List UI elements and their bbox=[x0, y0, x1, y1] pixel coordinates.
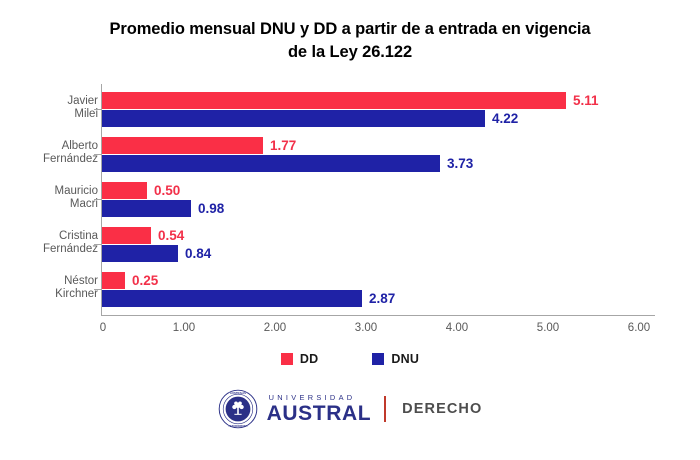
category-label-line: Milei bbox=[12, 108, 98, 121]
category-label-line: Javier bbox=[12, 95, 98, 108]
category-label-mauricio-macri: Mauricio Macri bbox=[12, 185, 98, 211]
category-label-line: Fernández bbox=[12, 153, 98, 166]
category-label-line: Cristina bbox=[12, 230, 98, 243]
bar-dd-nestor-kirchner[interactable] bbox=[102, 272, 125, 289]
chart-title-line-2: de la Ley 26.122 bbox=[40, 41, 660, 64]
category-label-line: Alberto bbox=[12, 140, 98, 153]
legend-label-dnu: DNU bbox=[391, 352, 419, 366]
bar-dnu-cristina-fernandez[interactable] bbox=[102, 245, 178, 262]
logo-divider bbox=[384, 396, 386, 422]
bar-dd-mauricio-macri[interactable] bbox=[102, 182, 147, 199]
bar-dnu-javier-milei[interactable] bbox=[102, 110, 485, 127]
category-label-nestor-kirchner: Néstor Kirchner bbox=[12, 275, 98, 301]
austral-seal-icon: · AUSTRALIS · · STUDIORUM · bbox=[218, 389, 258, 429]
bar-value-dnu-alberto-fernandez: 3.73 bbox=[447, 155, 473, 172]
bar-dd-alberto-fernandez[interactable] bbox=[102, 137, 263, 154]
chart-title: Promedio mensual DNU y DD a partir de a … bbox=[40, 18, 660, 64]
logo-universidad-text: UNIVERSIDAD bbox=[269, 394, 372, 401]
bar-value-dd-javier-milei: 5.11 bbox=[573, 92, 599, 109]
chart-title-line-1: Promedio mensual DNU y DD a partir de a … bbox=[40, 18, 660, 41]
bar-value-dnu-mauricio-macri: 0.98 bbox=[198, 200, 224, 217]
plot-area: 5.11 4.22 1.77 3.73 0.50 0.98 0.54 0.84 bbox=[101, 84, 655, 316]
x-tick-label-4: 4.00 bbox=[427, 322, 487, 334]
x-tick-label-3: 3.00 bbox=[336, 322, 396, 334]
category-tick bbox=[94, 199, 101, 200]
x-tick-label-0: 0 bbox=[73, 322, 133, 334]
chart-figure: Promedio mensual DNU y DD a partir de a … bbox=[0, 0, 700, 460]
legend-label-dd: DD bbox=[300, 352, 318, 366]
chart-legend: DD DNU bbox=[0, 352, 700, 366]
bar-dnu-nestor-kirchner[interactable] bbox=[102, 290, 362, 307]
svg-text:· STUDIORUM ·: · STUDIORUM · bbox=[227, 424, 247, 428]
bar-dd-cristina-fernandez[interactable] bbox=[102, 227, 151, 244]
legend-swatch-dd-icon bbox=[281, 353, 293, 365]
bar-dnu-mauricio-macri[interactable] bbox=[102, 200, 191, 217]
bar-dnu-alberto-fernandez[interactable] bbox=[102, 155, 440, 172]
legend-item-dd[interactable]: DD bbox=[281, 352, 318, 366]
svg-text:· AUSTRALIS ·: · AUSTRALIS · bbox=[228, 391, 247, 395]
legend-swatch-dnu-icon bbox=[372, 353, 384, 365]
category-tick bbox=[94, 154, 101, 155]
logo-austral-text: AUSTRAL bbox=[267, 403, 372, 424]
bar-value-dd-mauricio-macri: 0.50 bbox=[154, 182, 180, 199]
x-axis-line bbox=[101, 315, 655, 316]
category-label-line: Fernández bbox=[12, 243, 98, 256]
category-tick bbox=[94, 289, 101, 290]
logo-derecho-text: DERECHO bbox=[402, 401, 482, 417]
legend-item-dnu[interactable]: DNU bbox=[372, 352, 419, 366]
category-label-line: Mauricio bbox=[12, 185, 98, 198]
x-tick-label-6: 6.00 bbox=[609, 322, 669, 334]
bar-value-dd-nestor-kirchner: 0.25 bbox=[132, 272, 158, 289]
bar-value-dnu-javier-milei: 4.22 bbox=[492, 110, 518, 127]
x-tick-label-5: 5.00 bbox=[518, 322, 578, 334]
category-label-javier-milei: Javier Milei bbox=[12, 95, 98, 121]
category-label-line: Néstor bbox=[12, 275, 98, 288]
bar-value-dd-cristina-fernandez: 0.54 bbox=[158, 227, 184, 244]
category-label-line: Kirchner bbox=[12, 288, 98, 301]
austral-wordmark: UNIVERSIDAD AUSTRAL bbox=[267, 394, 372, 423]
bar-value-dnu-nestor-kirchner: 2.87 bbox=[369, 290, 395, 307]
category-tick bbox=[94, 244, 101, 245]
category-label-cristina-fernandez: Cristina Fernández bbox=[12, 230, 98, 256]
bar-dd-javier-milei[interactable] bbox=[102, 92, 566, 109]
universidad-austral-derecho-logo: · AUSTRALIS · · STUDIORUM · UNIVERSIDAD … bbox=[0, 389, 700, 429]
bar-value-dnu-cristina-fernandez: 0.84 bbox=[185, 245, 211, 262]
bar-value-dd-alberto-fernandez: 1.77 bbox=[270, 137, 296, 154]
category-label-line: Macri bbox=[12, 198, 98, 211]
category-tick bbox=[94, 109, 101, 110]
category-label-alberto-fernandez: Alberto Fernández bbox=[12, 140, 98, 166]
x-tick-label-1: 1.00 bbox=[154, 322, 214, 334]
x-tick-label-2: 2.00 bbox=[245, 322, 305, 334]
